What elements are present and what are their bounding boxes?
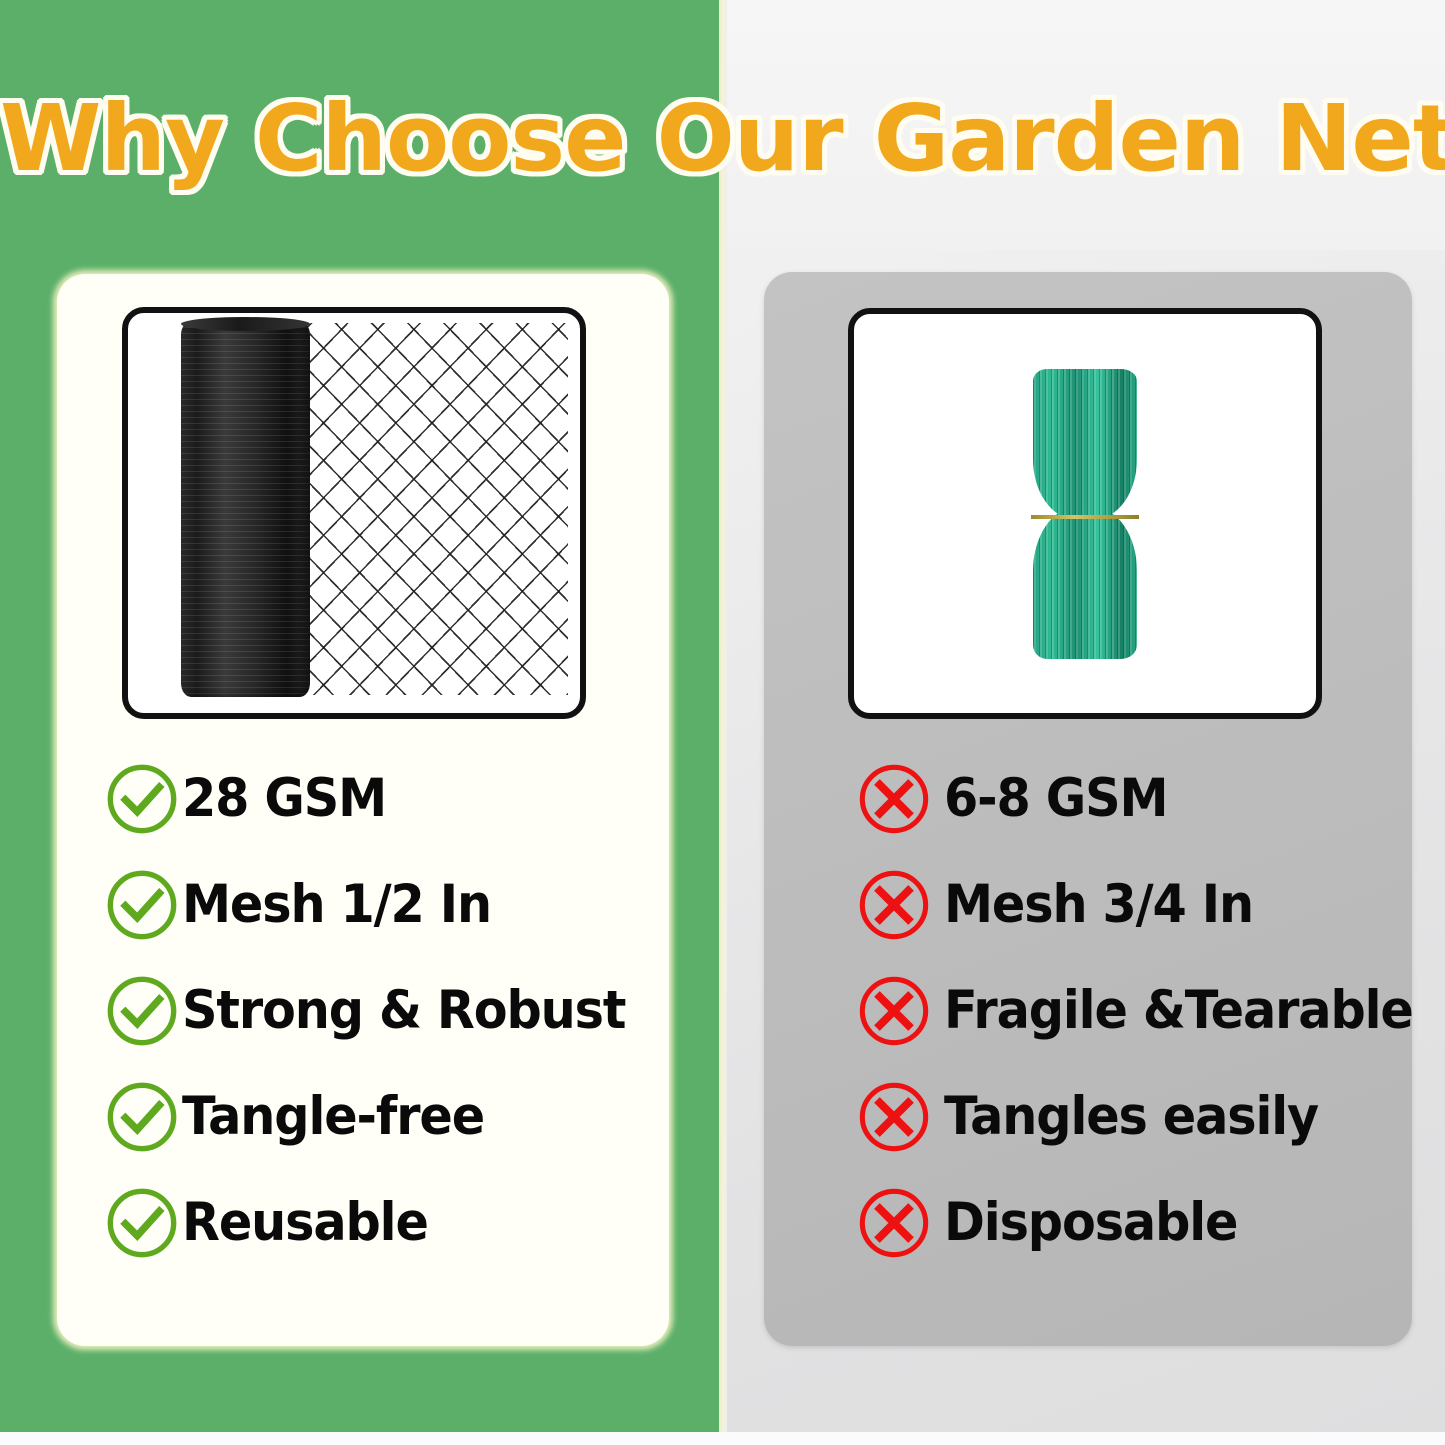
list-item: Strong & Robust [104,958,664,1064]
list-item-label: Reusable [182,1195,428,1251]
list-item-label: Tangle-free [182,1089,484,1145]
competitor-feature-list: 6-8 GSM Mesh 3/4 In Fragile &Tearable Ta… [856,746,1416,1276]
list-item-label: Disposable [944,1195,1237,1251]
list-item-label: Mesh 3/4 In [944,877,1253,933]
comparison-infographic: Why Choose Our Garden Netting? 28 GSM Me… [0,0,1445,1445]
cross-circle-icon [856,867,932,943]
competitor-image-inner [854,314,1316,713]
bundle-upper-half [1033,369,1137,519]
check-circle-icon [104,1185,180,1261]
check-circle-icon [104,1079,180,1155]
diamond-mesh-pattern [296,323,568,695]
list-item-label: Strong & Robust [182,983,625,1039]
black-netting-roll-top [181,317,310,331]
bottom-edge-strip [0,1432,1445,1445]
bundle-lower-half [1033,507,1137,659]
green-netting-bundle [1033,369,1137,659]
page-title: Why Choose Our Garden Netting? [0,84,1445,194]
list-item: Mesh 1/2 In [104,852,664,958]
our-product-feature-list: 28 GSM Mesh 1/2 In Strong & Robust Tangl… [104,746,664,1276]
list-item: Tangle-free [104,1064,664,1170]
cross-circle-icon [856,761,932,837]
list-item: Fragile &Tearable [856,958,1416,1064]
list-item-label: Mesh 1/2 In [182,877,491,933]
cross-circle-icon [856,1079,932,1155]
list-item: 28 GSM [104,746,664,852]
list-item-label: 28 GSM [182,771,386,827]
list-item-label: Fragile &Tearable [944,983,1413,1039]
list-item-label: 6-8 GSM [944,771,1167,827]
cross-circle-icon [856,973,932,1049]
check-circle-icon [104,973,180,1049]
bundle-tie-string [1031,515,1139,519]
check-circle-icon [104,867,180,943]
list-item: Reusable [104,1170,664,1276]
list-item: 6-8 GSM [856,746,1416,852]
our-product-image-frame [122,307,586,719]
list-item: Disposable [856,1170,1416,1276]
black-netting-roll [181,321,310,697]
cross-circle-icon [856,1185,932,1261]
competitor-product-image-frame [848,308,1322,719]
list-item-label: Tangles easily [944,1089,1318,1145]
check-circle-icon [104,761,180,837]
list-item: Tangles easily [856,1064,1416,1170]
list-item: Mesh 3/4 In [856,852,1416,958]
panel-divider [719,0,727,1445]
